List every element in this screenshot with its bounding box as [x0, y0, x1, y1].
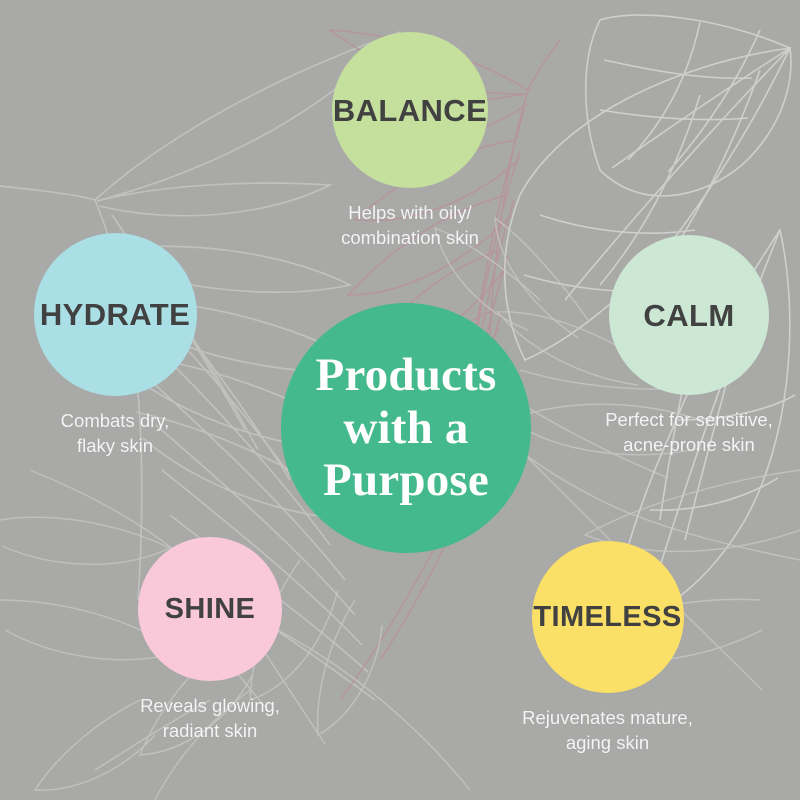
bubble-hydrate[interactable]: HYDRATE — [34, 233, 197, 396]
bubble-center-hero[interactable]: Products with a Purpose — [281, 303, 531, 553]
bubble-calm[interactable]: CALM — [609, 235, 769, 395]
bubble-label-calm: CALM — [643, 300, 734, 331]
bubble-shine[interactable]: SHINE — [138, 537, 282, 681]
bubble-label-hydrate: HYDRATE — [40, 299, 190, 330]
infographic-canvas: BALANCE Helps with oily/ combination ski… — [0, 0, 800, 800]
caption-shine: Reveals glowing, radiant skin — [140, 694, 280, 743]
caption-calm: Perfect for sensitive, acne-prone skin — [605, 408, 773, 457]
caption-hydrate: Combats dry, flaky skin — [61, 409, 170, 458]
caption-timeless: Rejuvenates mature, aging skin — [522, 706, 693, 755]
bubble-label-balance: BALANCE — [333, 95, 487, 126]
caption-balance: Helps with oily/ combination skin — [341, 201, 479, 250]
bubble-label-shine: SHINE — [165, 595, 256, 624]
bubble-timeless[interactable]: TIMELESS — [532, 541, 684, 693]
bubble-label-timeless: TIMELESS — [533, 603, 681, 632]
node-center-hero[interactable]: Products with a Purpose — [281, 303, 531, 553]
bubble-balance[interactable]: BALANCE — [332, 32, 488, 188]
node-calm[interactable]: CALM Perfect for sensitive, acne-prone s… — [594, 235, 784, 457]
node-timeless[interactable]: TIMELESS Rejuvenates mature, aging skin — [505, 541, 710, 755]
node-hydrate[interactable]: HYDRATE Combats dry, flaky skin — [17, 233, 213, 458]
node-balance[interactable]: BALANCE Helps with oily/ combination ski… — [305, 32, 515, 250]
page-title: Products with a Purpose — [316, 349, 497, 507]
node-shine[interactable]: SHINE Reveals glowing, radiant skin — [115, 537, 305, 743]
